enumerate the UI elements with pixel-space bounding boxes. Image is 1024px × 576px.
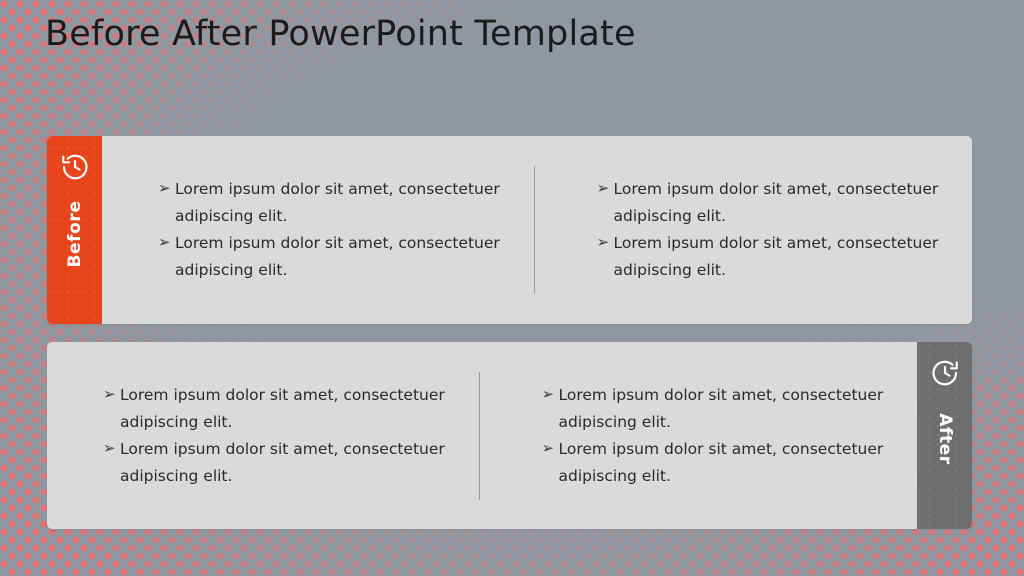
before-tab[interactable]: Before	[47, 136, 102, 324]
list-item: ➢ Lorem ipsum dolor sit amet, consectetu…	[160, 176, 505, 230]
bullet-arrow-icon: ➢	[597, 175, 610, 202]
after-content: ➢ Lorem ipsum dolor sit amet, consectetu…	[47, 342, 917, 529]
after-left-bullet-list: ➢ Lorem ipsum dolor sit amet, consectetu…	[105, 382, 455, 490]
list-item-text: Lorem ipsum dolor sit amet, consectetuer…	[559, 440, 884, 485]
history-clock-counterclockwise-icon	[60, 152, 90, 182]
list-item-text: Lorem ipsum dolor sit amet, consectetuer…	[120, 440, 445, 485]
bullet-arrow-icon: ➢	[597, 229, 610, 256]
page-title: Before After PowerPoint Template	[45, 12, 636, 56]
bullet-arrow-icon: ➢	[103, 435, 116, 462]
list-item-text: Lorem ipsum dolor sit amet, consectetuer…	[175, 234, 500, 279]
after-tab[interactable]: After	[917, 342, 972, 529]
before-column-right: ➢ Lorem ipsum dolor sit amet, consectetu…	[535, 176, 973, 284]
list-item: ➢ Lorem ipsum dolor sit amet, consectetu…	[599, 230, 944, 284]
after-tab-label: After	[935, 413, 955, 465]
before-tab-label: Before	[65, 200, 85, 267]
list-item: ➢ Lorem ipsum dolor sit amet, consectetu…	[544, 436, 889, 490]
update-clock-clockwise-icon	[930, 358, 960, 388]
list-item-text: Lorem ipsum dolor sit amet, consectetuer…	[614, 180, 939, 225]
after-right-bullet-list: ➢ Lorem ipsum dolor sit amet, consectetu…	[544, 382, 894, 490]
before-column-left: ➢ Lorem ipsum dolor sit amet, consectetu…	[102, 176, 534, 284]
list-item: ➢ Lorem ipsum dolor sit amet, consectetu…	[544, 382, 889, 436]
before-left-bullet-list: ➢ Lorem ipsum dolor sit amet, consectetu…	[160, 176, 510, 284]
before-card: Before ➢ Lorem ipsum dolor sit amet, con…	[47, 136, 972, 324]
list-item-text: Lorem ipsum dolor sit amet, consectetuer…	[120, 386, 445, 431]
list-item: ➢ Lorem ipsum dolor sit amet, consectetu…	[599, 176, 944, 230]
bullet-arrow-icon: ➢	[542, 381, 555, 408]
list-item-text: Lorem ipsum dolor sit amet, consectetuer…	[559, 386, 884, 431]
bullet-arrow-icon: ➢	[158, 229, 171, 256]
after-card: ➢ Lorem ipsum dolor sit amet, consectetu…	[47, 342, 972, 529]
after-column-right: ➢ Lorem ipsum dolor sit amet, consectetu…	[480, 382, 918, 490]
bullet-arrow-icon: ➢	[542, 435, 555, 462]
slide-canvas: Before After PowerPoint Template Before …	[0, 0, 1024, 576]
before-content: ➢ Lorem ipsum dolor sit amet, consectetu…	[102, 136, 972, 324]
before-right-bullet-list: ➢ Lorem ipsum dolor sit amet, consectetu…	[599, 176, 949, 284]
list-item-text: Lorem ipsum dolor sit amet, consectetuer…	[175, 180, 500, 225]
list-item: ➢ Lorem ipsum dolor sit amet, consectetu…	[160, 230, 505, 284]
after-column-left: ➢ Lorem ipsum dolor sit amet, consectetu…	[47, 382, 479, 490]
bullet-arrow-icon: ➢	[103, 381, 116, 408]
bullet-arrow-icon: ➢	[158, 175, 171, 202]
list-item: ➢ Lorem ipsum dolor sit amet, consectetu…	[105, 382, 450, 436]
list-item-text: Lorem ipsum dolor sit amet, consectetuer…	[614, 234, 939, 279]
list-item: ➢ Lorem ipsum dolor sit amet, consectetu…	[105, 436, 450, 490]
